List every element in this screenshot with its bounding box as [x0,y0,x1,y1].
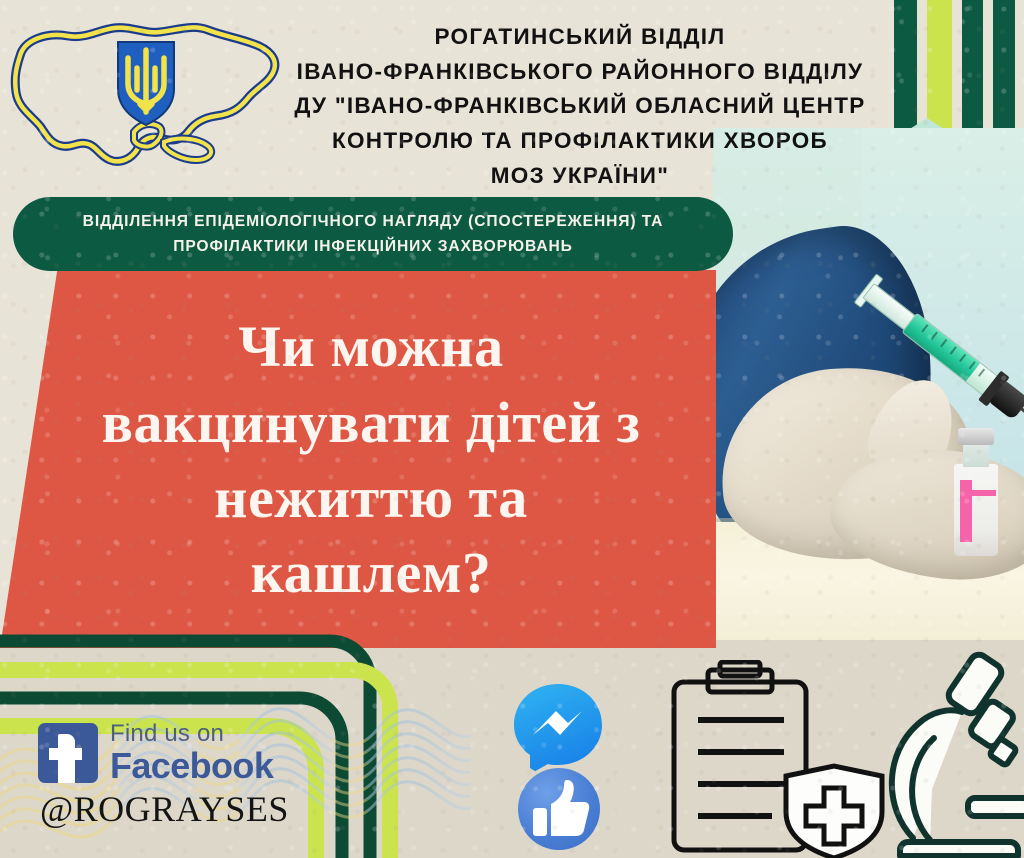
department-banner-line-1: ВІДДІЛЕННЯ ЕПІДЕМІОЛОГІЧНОГО НАГЛЯДУ (СП… [83,209,664,234]
org-title-line-3: ДУ "ІВАНО-ФРАНКІВСЬКИЙ ОБЛАСНИЙ ЦЕНТР [250,89,910,124]
vaccine-vial-icon [953,428,999,556]
vaccination-photo [713,128,1024,640]
headline-line-1: Чи можна [238,309,503,384]
headline-line-2: вакцинувати дітей з [102,385,641,460]
poster-canvas: Чи можна вакцинувати дітей з нежиттю та … [0,0,1024,858]
department-banner-line-2: ПРОФІЛАКТИКИ ІНФЕКЦІЙНИХ ЗАХВОРЮВАНЬ [173,234,573,259]
facebook-logo-icon[interactable] [38,723,98,783]
org-title-line-4: КОНТРОЛЮ ТА ПРОФІЛАКТИКИ ХВОРОБ [250,124,910,159]
headline-text: Чи можна вакцинувати дітей з нежиттю та … [46,290,696,630]
facebook-handle[interactable]: @ROGRAYSES [40,788,289,830]
messenger-icon[interactable] [510,681,606,777]
headline-line-4: кашлем? [251,535,492,610]
ukraine-map-logo [2,4,290,190]
facebook-like-icon[interactable] [518,768,600,850]
clipboard-with-medical-shield-icon [668,660,888,858]
facebook-callout[interactable]: Find us on Facebook @ROGRAYSES [38,722,289,830]
department-banner: ВІДДІЛЕННЯ ЕПІДЕМІОЛОГІЧНОГО НАГЛЯДУ (СП… [13,197,733,271]
org-title-line-1: РОГАТИНСЬКИЙ ВІДДІЛ [250,20,910,55]
headline-line-3: нежиттю та [214,460,528,535]
facebook-brand-label: Facebook [110,748,273,784]
organization-title: РОГАТИНСЬКИЙ ВІДДІЛ ІВАНО-ФРАНКІВСЬКОГО … [250,20,910,193]
microscope-icon [880,650,1024,858]
find-us-on-label: Find us on [110,722,273,746]
org-title-line-5: МОЗ УКРАЇНИ" [250,159,910,194]
org-title-line-2: ІВАНО-ФРАНКІВСЬКОГО РАЙОННОГО ВІДДІЛУ [250,55,910,90]
